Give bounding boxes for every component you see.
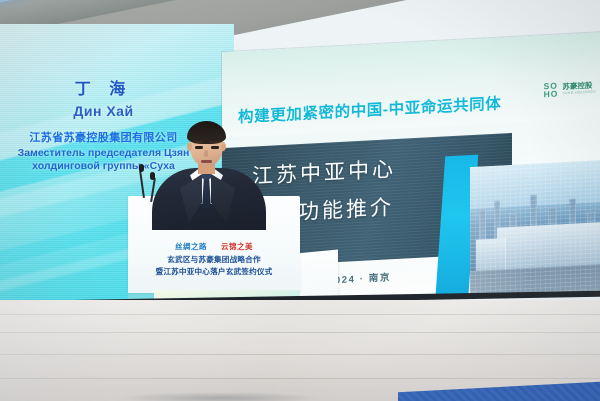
slide-title-line2: 功能推介 [298, 191, 394, 226]
suhao-logo-mark-line2: HO [544, 90, 559, 99]
speaker-ear-right [221, 142, 226, 151]
speaker-eye-right [211, 146, 219, 149]
lectern-calligraphy-2: 云锦之美 [221, 242, 253, 251]
suhao-logo-mark: SO HO [544, 81, 559, 98]
photo-glare [470, 159, 600, 307]
led-strip-glow [0, 0, 600, 14]
suhao-logo: SO HO 苏豪控股 SUHO HOLDINGS [544, 80, 596, 99]
slide-cityscape-photo [470, 159, 600, 307]
lectern-calligraphy: 丝绸之路 云锦之美 [128, 236, 300, 248]
speaker-ear-left [187, 142, 192, 151]
speaker-nose [204, 150, 208, 157]
speaker-eye-left [195, 146, 203, 149]
speaker-name-cn: 丁 海 [0, 80, 211, 100]
lectern-shadow [120, 392, 320, 401]
conference-stage-photo: 丁 海 Дин Хай 江苏省苏豪控股集团有限公司 Заместитель пр… [0, 0, 600, 401]
speaker-mouth [201, 160, 212, 163]
microphone-head-left [139, 164, 144, 172]
lectern-text-line2: 暨江苏中亚中心落户玄武签约仪式 [128, 266, 300, 277]
lectern-calligraphy-1: 丝绸之路 [175, 242, 207, 251]
suhao-logo-text: 苏豪控股 SUHO HOLDINGS [562, 82, 596, 96]
speaker-person [150, 118, 268, 228]
suhao-logo-sub: SUHO HOLDINGS [562, 90, 596, 96]
speaker-name-ru: Дин Хай [0, 103, 211, 119]
speaker-hair [187, 121, 226, 144]
lectern-text-line1: 玄武区与苏豪集团战略合作 [128, 254, 300, 265]
